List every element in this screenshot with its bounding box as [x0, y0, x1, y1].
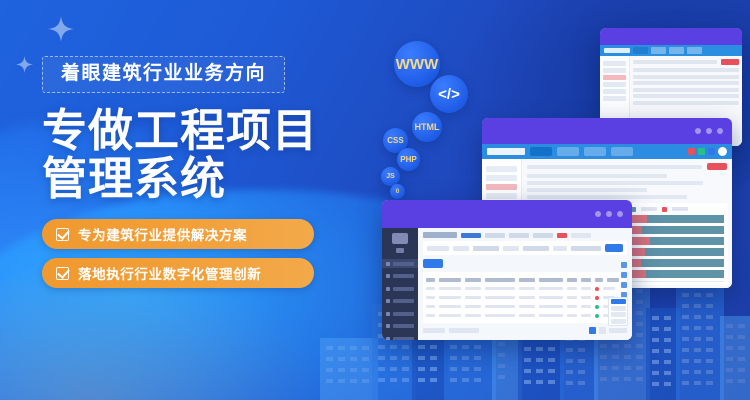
- filter-select[interactable]: [473, 246, 499, 251]
- page-size-select[interactable]: [609, 328, 627, 333]
- building-window: [578, 381, 585, 385]
- status-badge: [595, 305, 599, 309]
- feature-pill-list: 专为建筑行业提供解决方案 落地执行行业数字化管理创新: [42, 219, 342, 288]
- building-window: [362, 379, 369, 383]
- table-cell: [426, 305, 435, 309]
- building-window: [390, 367, 397, 371]
- building-window: [566, 348, 573, 352]
- building-window: [636, 377, 643, 381]
- building-window: [462, 345, 469, 349]
- table-cell: [485, 287, 515, 291]
- building-window: [694, 337, 701, 341]
- tech-bubble-: </>: [430, 75, 468, 113]
- sidebar-item-selected[interactable]: [486, 184, 517, 190]
- building-silhouette: [646, 308, 680, 400]
- building-window: [726, 335, 733, 339]
- building-window: [338, 357, 345, 361]
- table-header-row: [426, 275, 624, 284]
- sidebar-item[interactable]: [603, 89, 626, 94]
- building-window: [430, 356, 437, 360]
- filter-label: [427, 246, 449, 251]
- summary-text: [423, 328, 445, 333]
- building-window: [612, 355, 619, 359]
- building-window: [694, 326, 701, 330]
- building-window: [664, 327, 671, 331]
- browser-chrome: [382, 200, 632, 228]
- building-window: [636, 344, 643, 348]
- primary-action-button[interactable]: [707, 163, 727, 170]
- table-cell: [485, 296, 515, 300]
- building-window: [578, 348, 585, 352]
- building-window: [402, 378, 409, 382]
- table-cell: [603, 287, 615, 291]
- building-window: [450, 356, 457, 360]
- headline-line-1: 专做工程项目: [42, 104, 318, 157]
- window-dot[interactable]: [617, 211, 623, 217]
- table-column-header: [595, 278, 603, 282]
- nav-tab[interactable]: [633, 47, 648, 54]
- feature-pill-label: 落地执行行业数字化管理创新: [78, 263, 261, 283]
- building-window: [624, 366, 631, 370]
- summary-text: [449, 328, 479, 333]
- building-window: [624, 344, 631, 348]
- building-window: [548, 380, 555, 384]
- building-window: [536, 347, 543, 351]
- building-window: [726, 324, 733, 328]
- sidebar-item[interactable]: [603, 68, 626, 73]
- sidebar-item[interactable]: [603, 82, 626, 87]
- page-heading: [423, 232, 457, 238]
- table-cell: [539, 314, 563, 318]
- building-window: [600, 355, 607, 359]
- table-cell: [439, 287, 461, 291]
- sidebar-item-icon: [386, 337, 390, 341]
- filter-label: [553, 246, 567, 251]
- sidebar-item-selected[interactable]: [382, 259, 418, 268]
- building-window: [652, 360, 659, 364]
- table-cell: [485, 314, 515, 318]
- table-column-header: [485, 278, 515, 282]
- building-window: [536, 380, 543, 384]
- context-menu-item[interactable]: [611, 299, 626, 304]
- building-window: [706, 337, 713, 341]
- checkbox-checked-icon: [56, 267, 69, 280]
- sidebar-item[interactable]: [486, 175, 517, 181]
- content-line: [527, 174, 667, 178]
- building-window: [350, 379, 357, 383]
- building-window: [624, 377, 631, 381]
- list-row[interactable]: [633, 88, 739, 92]
- building-window: [694, 359, 701, 363]
- building-window: [664, 360, 671, 364]
- tagline-box: 着眼建筑行业业务方向: [42, 56, 285, 93]
- sidebar-item[interactable]: [486, 166, 517, 172]
- sidebar-item-icon: [386, 324, 390, 328]
- building-silhouette: [320, 338, 378, 400]
- building-window: [682, 370, 689, 374]
- table-row[interactable]: [426, 284, 624, 293]
- building-window: [636, 355, 643, 359]
- building-window: [462, 378, 469, 382]
- message-icon[interactable]: [698, 148, 705, 155]
- settings-icon[interactable]: [621, 282, 627, 288]
- app-sidebar: [382, 228, 418, 340]
- list-row[interactable]: [633, 94, 739, 98]
- building-window: [566, 370, 573, 374]
- tagline-text: 着眼建筑行业业务方向: [61, 64, 266, 83]
- building-window: [694, 304, 701, 308]
- building-window: [682, 337, 689, 341]
- context-menu-item[interactable]: [611, 319, 626, 324]
- tech-bubble-label: PHP: [400, 155, 416, 164]
- tech-bubble-php: PHP: [397, 148, 420, 171]
- chart-bar-segment: [642, 226, 724, 234]
- checkbox-checked-icon: [56, 228, 69, 241]
- building-window: [636, 333, 643, 337]
- tech-bubble-label: </>: [438, 86, 460, 103]
- building-window: [498, 353, 505, 357]
- building-window: [402, 356, 409, 360]
- building-window: [706, 381, 713, 385]
- tech-bubble-label: HTML: [415, 122, 440, 132]
- feature-pill[interactable]: 落地执行行业数字化管理创新: [42, 258, 314, 288]
- app-logo-icon: [392, 233, 408, 244]
- building-window: [694, 315, 701, 319]
- sidebar-item-icon: [386, 287, 390, 291]
- building-window: [402, 367, 409, 371]
- sidebar-item[interactable]: [382, 297, 418, 306]
- table-cell: [539, 287, 563, 291]
- browser-chrome: [600, 28, 742, 45]
- building-window: [706, 370, 713, 374]
- context-menu[interactable]: [608, 297, 628, 327]
- building-window: [738, 346, 745, 350]
- content-line: [527, 165, 702, 169]
- window-dot[interactable]: [717, 128, 723, 134]
- content-tab[interactable]: [485, 233, 505, 238]
- window-dot[interactable]: [695, 128, 701, 134]
- building-window: [524, 369, 531, 373]
- building-window: [350, 346, 357, 350]
- sidebar-item[interactable]: [382, 284, 418, 293]
- table-cell: [539, 296, 563, 300]
- table-cell: [426, 296, 435, 300]
- building-window: [548, 347, 555, 351]
- table-row[interactable]: [426, 293, 624, 302]
- chart-bar-segment: [645, 248, 724, 256]
- sidebar-item[interactable]: [603, 96, 626, 101]
- tech-bubble-label: CSS: [387, 136, 403, 145]
- alert-icon[interactable]: [688, 148, 695, 155]
- building-window: [474, 378, 481, 382]
- table-column-header: [539, 278, 563, 282]
- sidebar-item-label: [393, 312, 414, 316]
- project-management-dashboard-window[interactable]: [382, 200, 632, 340]
- view-icon[interactable]: [621, 272, 627, 278]
- building-window: [362, 346, 369, 350]
- building-window: [350, 357, 357, 361]
- legend-label: [641, 207, 657, 211]
- building-window: [378, 378, 385, 382]
- filter-label: [503, 246, 519, 251]
- nav-tab[interactable]: [669, 47, 684, 54]
- list-row[interactable]: [633, 68, 739, 72]
- building-window: [682, 326, 689, 330]
- content-line: [527, 195, 687, 199]
- building-window: [566, 359, 573, 363]
- filter-select[interactable]: [523, 246, 549, 251]
- nav-tab[interactable]: [530, 147, 552, 156]
- edit-icon[interactable]: [621, 262, 627, 268]
- building-silhouette: [676, 274, 724, 400]
- table-cell: [567, 305, 577, 309]
- building-window: [378, 356, 385, 360]
- building-window: [378, 367, 385, 371]
- sidebar-item[interactable]: [486, 193, 517, 199]
- building-window: [536, 358, 543, 362]
- nav-tab[interactable]: [557, 147, 579, 156]
- content-header: [423, 232, 627, 238]
- building-window: [738, 324, 745, 328]
- building-window: [578, 359, 585, 363]
- nav-tab[interactable]: [611, 147, 633, 156]
- sidebar-item-icon: [386, 262, 390, 266]
- building-window: [612, 377, 619, 381]
- building-window: [498, 342, 505, 346]
- app-logo: [487, 148, 525, 155]
- building-window: [738, 379, 745, 383]
- app-logo: [604, 48, 630, 53]
- building-window: [474, 367, 481, 371]
- building-window: [664, 338, 671, 342]
- building-window: [682, 293, 689, 297]
- building-window: [338, 368, 345, 372]
- table-cell: [465, 287, 481, 291]
- building-window: [362, 357, 369, 361]
- building-window: [326, 368, 333, 372]
- building-window: [706, 326, 713, 330]
- avatar[interactable]: [718, 147, 727, 156]
- pagination-next[interactable]: [599, 327, 606, 334]
- building-window: [636, 366, 643, 370]
- building-window: [682, 304, 689, 308]
- data-table: [423, 272, 627, 323]
- table-cell: [581, 305, 591, 309]
- table-cell: [519, 296, 535, 300]
- pagination-page[interactable]: [589, 327, 596, 334]
- table-cell: [426, 314, 435, 318]
- table-row[interactable]: [426, 302, 624, 311]
- sidebar-item-icon: [386, 312, 390, 316]
- content-tab[interactable]: [461, 233, 481, 238]
- window-dot[interactable]: [606, 211, 612, 217]
- building-window: [694, 370, 701, 374]
- building-window: [726, 379, 733, 383]
- list-row[interactable]: [633, 75, 739, 79]
- building-window: [738, 335, 745, 339]
- context-menu-item[interactable]: [611, 306, 626, 311]
- sidebar-item[interactable]: [382, 322, 418, 331]
- building-window: [524, 347, 531, 351]
- building-window: [652, 371, 659, 375]
- building-window: [548, 358, 555, 362]
- add-button[interactable]: [423, 259, 443, 268]
- sidebar-item-label: [393, 262, 414, 266]
- chart-bar-segment: [647, 215, 724, 223]
- table-column-header: [426, 278, 435, 282]
- feature-pill[interactable]: 专为建筑行业提供解决方案: [42, 219, 314, 249]
- table-column-header: [519, 278, 535, 282]
- building-window: [600, 344, 607, 348]
- building-window: [652, 327, 659, 331]
- sparkle-small-icon: [16, 56, 33, 73]
- notification-badge[interactable]: [557, 233, 567, 238]
- building-window: [524, 380, 531, 384]
- building-window: [706, 293, 713, 297]
- building-window: [350, 368, 357, 372]
- building-window: [326, 357, 333, 361]
- browser-chrome: [482, 118, 732, 144]
- building-window: [726, 368, 733, 372]
- table-cell: [465, 314, 481, 318]
- building-window: [726, 357, 733, 361]
- settings-icon[interactable]: [708, 148, 715, 155]
- building-window: [612, 344, 619, 348]
- app-logo-text: [396, 248, 404, 253]
- table-column-header: [567, 278, 577, 282]
- building-window: [390, 378, 397, 382]
- table-cell: [426, 287, 435, 291]
- building-window: [664, 382, 671, 386]
- window-dot[interactable]: [595, 211, 601, 217]
- building-window: [326, 346, 333, 350]
- table-cell: [485, 305, 515, 309]
- app-content: [418, 228, 632, 340]
- table-cell: [519, 287, 535, 291]
- tech-bubble-label: 0: [396, 189, 399, 195]
- primary-action-button[interactable]: [721, 59, 739, 65]
- tech-bubble-0: 0: [390, 184, 405, 199]
- building-window: [362, 368, 369, 372]
- building-window: [326, 379, 333, 383]
- table-footer: [423, 327, 627, 334]
- status-badge: [595, 296, 599, 300]
- filter-label: [453, 246, 469, 251]
- content-line: [527, 181, 703, 185]
- building-window: [682, 315, 689, 319]
- filter-bar: [423, 241, 627, 255]
- building-window: [524, 358, 531, 362]
- building-window: [474, 356, 481, 360]
- sidebar-item[interactable]: [382, 334, 418, 340]
- building-window: [726, 346, 733, 350]
- content-tab[interactable]: [533, 233, 553, 238]
- building-window: [636, 322, 643, 326]
- promotional-banner: 着眼建筑行业业务方向 专做工程项目 管理系统 专为建筑行业提供解决方案 落地执行…: [0, 0, 750, 400]
- sidebar-item-label: [393, 337, 414, 341]
- sidebar-item[interactable]: [382, 309, 418, 318]
- nav-tab[interactable]: [584, 147, 606, 156]
- app-viewport: [382, 228, 632, 340]
- headline-line-2: 管理系统: [42, 155, 342, 203]
- building-window: [694, 293, 701, 297]
- tech-bubble-label: JS: [386, 173, 395, 180]
- building-window: [418, 356, 425, 360]
- tech-bubble-label: WWW: [396, 56, 438, 73]
- feature-pill-label: 专为建筑行业提供解决方案: [78, 224, 247, 244]
- building-window: [450, 345, 457, 349]
- table-cell: [519, 305, 535, 309]
- building-window: [624, 355, 631, 359]
- search-input[interactable]: [571, 246, 601, 251]
- building-window: [738, 368, 745, 372]
- building-window: [652, 349, 659, 353]
- list-row[interactable]: [633, 81, 739, 85]
- content-tab[interactable]: [509, 233, 529, 238]
- context-menu-item[interactable]: [611, 312, 626, 317]
- building-window: [450, 378, 457, 382]
- banner-copy: 着眼建筑行业业务方向 专做工程项目 管理系统 专为建筑行业提供解决方案 落地执行…: [42, 56, 342, 297]
- building-window: [600, 377, 607, 381]
- building-window: [474, 345, 481, 349]
- table-column-header: [581, 278, 591, 282]
- table-cell: [439, 296, 461, 300]
- list-row[interactable]: [633, 101, 739, 105]
- table-cell: [465, 296, 481, 300]
- building-window: [338, 346, 345, 350]
- page-title: 专做工程项目 管理系统: [42, 107, 342, 203]
- sidebar-item[interactable]: [382, 272, 418, 281]
- app-header: [482, 144, 732, 159]
- building-window: [418, 378, 425, 382]
- sidebar-item-selected[interactable]: [603, 75, 626, 80]
- sidebar-item[interactable]: [603, 61, 626, 66]
- table-column-header: [607, 278, 619, 282]
- building-window: [402, 345, 409, 349]
- building-window: [706, 348, 713, 352]
- table-column-header: [439, 278, 461, 282]
- table-cell: [465, 305, 481, 309]
- building-window: [600, 366, 607, 370]
- nav-tab[interactable]: [687, 47, 702, 54]
- search-button[interactable]: [605, 244, 623, 252]
- sidebar-item-label: [393, 287, 414, 291]
- table-row[interactable]: [426, 311, 624, 320]
- building-window: [694, 381, 701, 385]
- chart-bar-segment: [646, 270, 724, 278]
- table-column-header: [465, 278, 481, 282]
- user-menu[interactable]: [571, 233, 591, 238]
- building-window: [548, 369, 555, 373]
- building-window: [664, 371, 671, 375]
- building-window: [636, 311, 643, 315]
- building-window: [390, 356, 397, 360]
- building-window: [682, 348, 689, 352]
- table-cell: [519, 314, 535, 318]
- sidebar-item-label: [393, 274, 414, 278]
- legend-swatch: [662, 207, 667, 212]
- window-dot[interactable]: [706, 128, 712, 134]
- chart-bar-segment: [650, 237, 724, 245]
- building-window: [664, 316, 671, 320]
- building-window: [566, 381, 573, 385]
- building-window: [430, 367, 437, 371]
- sparkle-large-icon: [48, 16, 74, 42]
- table-cell: [567, 296, 577, 300]
- building-window: [498, 375, 505, 379]
- nav-tab[interactable]: [651, 47, 666, 54]
- building-window: [378, 345, 385, 349]
